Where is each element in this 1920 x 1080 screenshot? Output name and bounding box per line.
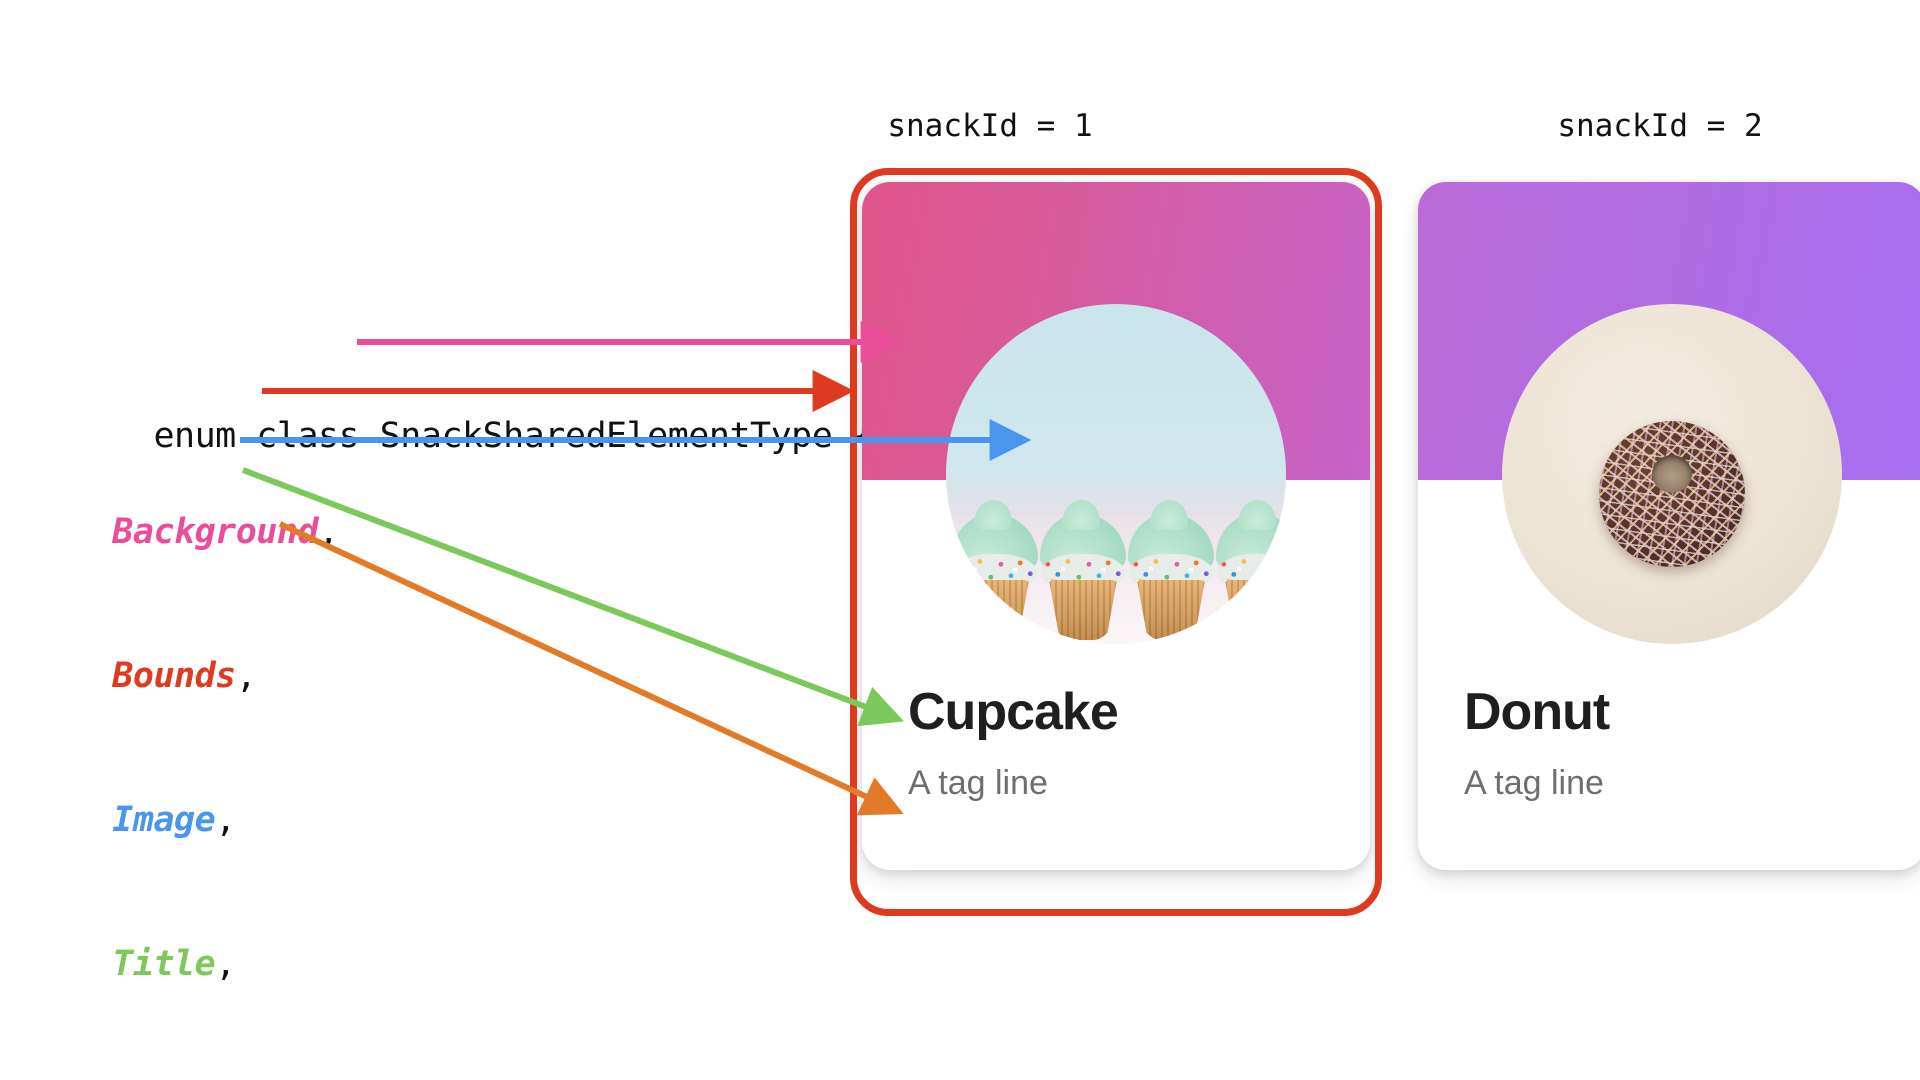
donut-hole xyxy=(1652,455,1692,493)
code-line-image: Image, xyxy=(30,796,873,844)
comma-punct: , xyxy=(215,944,236,984)
code-line-bounds: Bounds, xyxy=(30,652,873,700)
code-line-background: Background, xyxy=(30,508,873,556)
code-line-enum-declaration: enum class SnackSharedElementType { xyxy=(30,364,873,412)
card-image-circle xyxy=(1502,304,1842,644)
enum-member-background: Background xyxy=(112,512,318,552)
cupcake-item xyxy=(952,514,1038,642)
snack-card-donut[interactable]: Donut A tag line xyxy=(1418,182,1920,870)
donut-photo xyxy=(1502,304,1842,644)
comma-punct: , xyxy=(236,656,257,696)
card-image-circle xyxy=(946,304,1286,644)
enum-member-title: Title xyxy=(112,944,215,984)
code-block: enum class SnackSharedElementType { Back… xyxy=(30,268,873,1080)
cupcake-photo xyxy=(946,304,1286,644)
card-title: Donut xyxy=(1464,682,1609,742)
diagram-canvas: enum class SnackSharedElementType { Back… xyxy=(0,0,1920,1080)
cupcake-liner xyxy=(1049,580,1117,640)
snack-id-label-2: snackId = 2 xyxy=(1557,108,1762,144)
cupcake-item xyxy=(1040,514,1126,642)
cupcake-item xyxy=(1216,514,1286,642)
donut-ring xyxy=(1599,421,1745,567)
card-tagline: A tag line xyxy=(908,764,1048,803)
cupcake-item xyxy=(1128,514,1214,642)
snack-card-cupcake[interactable]: Cupcake A tag line xyxy=(862,182,1370,870)
cupcake-liner xyxy=(961,580,1029,640)
enum-member-image: Image xyxy=(112,800,215,840)
cupcake-liner xyxy=(1137,580,1205,640)
comma-punct: , xyxy=(318,512,339,552)
enum-declaration-text: enum class SnackSharedElementType { xyxy=(153,416,873,456)
card-tagline: A tag line xyxy=(1464,764,1604,803)
card-title: Cupcake xyxy=(908,682,1118,742)
cupcake-liner xyxy=(1225,580,1286,640)
snack-id-label-1: snackId = 1 xyxy=(887,108,1092,144)
enum-member-bounds: Bounds xyxy=(112,656,235,696)
code-line-title: Title, xyxy=(30,940,873,988)
comma-punct: , xyxy=(215,800,236,840)
